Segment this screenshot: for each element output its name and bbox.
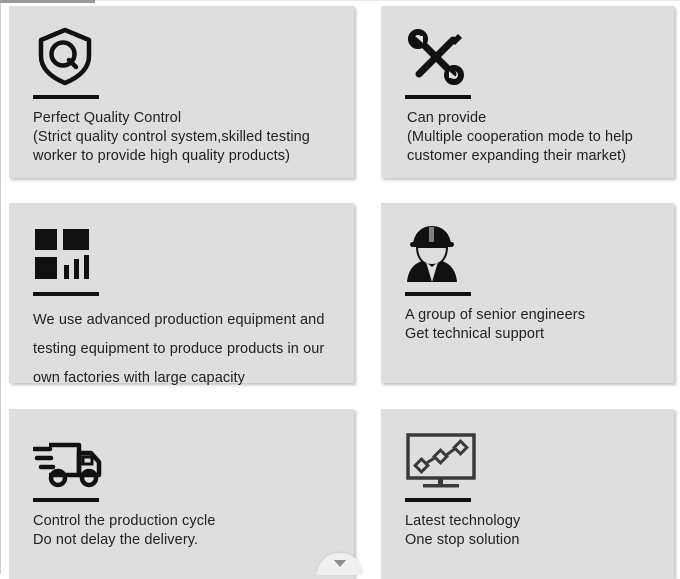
feature-card-text: We use advanced production equipment and…	[33, 306, 334, 393]
feature-card-grid: Perfect Quality Control (Strict quality …	[0, 0, 680, 574]
accent-rule	[33, 498, 99, 502]
accent-rule	[33, 95, 99, 99]
card-row-1: Perfect Quality Control (Strict quality …	[9, 6, 674, 178]
monitor-chart-icon	[405, 427, 654, 489]
feature-card-delivery-cycle[interactable]: Control the production cycle Do not dela…	[9, 409, 354, 579]
card-row-2: We use advanced production equipment and…	[9, 203, 674, 383]
production-chart-icon	[33, 221, 334, 283]
feature-card-latest-technology[interactable]: Latest technology One stop solution	[381, 409, 674, 579]
feature-card-quality-control[interactable]: Perfect Quality Control (Strict quality …	[9, 6, 354, 178]
wrench-screwdriver-icon	[405, 24, 654, 86]
feature-card-senior-engineers[interactable]: A group of senior engineers Get technica…	[381, 203, 674, 383]
accent-rule	[33, 292, 99, 296]
accent-rule	[405, 292, 471, 296]
feature-card-text: Perfect Quality Control (Strict quality …	[33, 109, 334, 166]
feature-card-text: Latest technology One stop solution	[405, 512, 654, 550]
feature-card-text: Can provide (Multiple cooperation mode t…	[405, 109, 654, 166]
feature-card-production-equipment[interactable]: We use advanced production equipment and…	[9, 203, 354, 383]
engineer-helmet-icon	[405, 221, 654, 283]
chevron-down-icon	[334, 560, 346, 567]
delivery-truck-icon	[33, 427, 334, 489]
feature-card-text: Control the production cycle Do not dela…	[33, 512, 334, 550]
accent-rule	[405, 95, 471, 99]
shield-quality-icon	[33, 24, 334, 86]
feature-card-text: A group of senior engineers Get technica…	[405, 306, 654, 344]
feature-card-cooperation[interactable]: Can provide (Multiple cooperation mode t…	[381, 6, 674, 178]
accent-rule	[405, 498, 471, 502]
